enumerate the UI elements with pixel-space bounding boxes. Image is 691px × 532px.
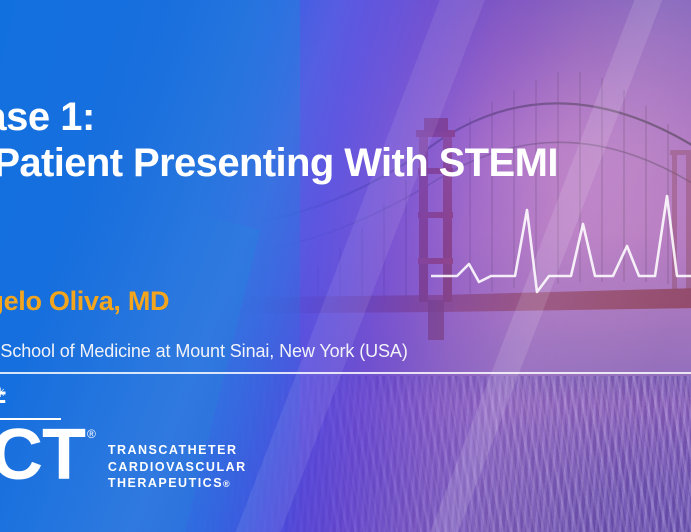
- tct-tagline-line-3-wrap: THERAPEUTICS®: [108, 475, 247, 492]
- tct-tagline: TRANSCATHETER CARDIOVASCULAR THERAPEUTIC…: [108, 442, 247, 492]
- horizontal-divider: [0, 372, 691, 374]
- page-title-line-1: Case 1:: [0, 96, 691, 138]
- crf-logo-row: CRF ✳: [0, 386, 247, 416]
- star-icon: ✳: [0, 386, 6, 399]
- slide-content: Case 1: A Patient Presenting With STEMI …: [0, 0, 691, 532]
- page-title-line-2: A Patient Presenting With STEMI: [0, 142, 691, 184]
- tct-tagline-line-1: TRANSCATHETER: [108, 442, 247, 459]
- crf-tct-logo: CRF ✳ TCT ® TRANSCATHETER CARDIOVASCULAR…: [0, 386, 247, 492]
- presenter-name: Angelo Oliva, MD: [0, 286, 169, 317]
- tct-logo-row: TCT ® TRANSCATHETER CARDIOVASCULAR THERA…: [0, 422, 247, 492]
- presenter-affiliation: Icahn School of Medicine at Mount Sinai,…: [0, 341, 408, 362]
- registered-mark-icon: ®: [87, 428, 96, 440]
- tct-logo-text: TCT: [0, 422, 85, 488]
- tct-tagline-line-2: CARDIOVASCULAR: [108, 459, 247, 476]
- title-block: Case 1: A Patient Presenting With STEMI: [0, 96, 691, 185]
- tagline-registered-mark-icon: ®: [223, 479, 230, 489]
- tct-tagline-line-3: THERAPEUTICS: [108, 476, 223, 490]
- presentation-slide: Case 1: A Patient Presenting With STEMI …: [0, 0, 691, 532]
